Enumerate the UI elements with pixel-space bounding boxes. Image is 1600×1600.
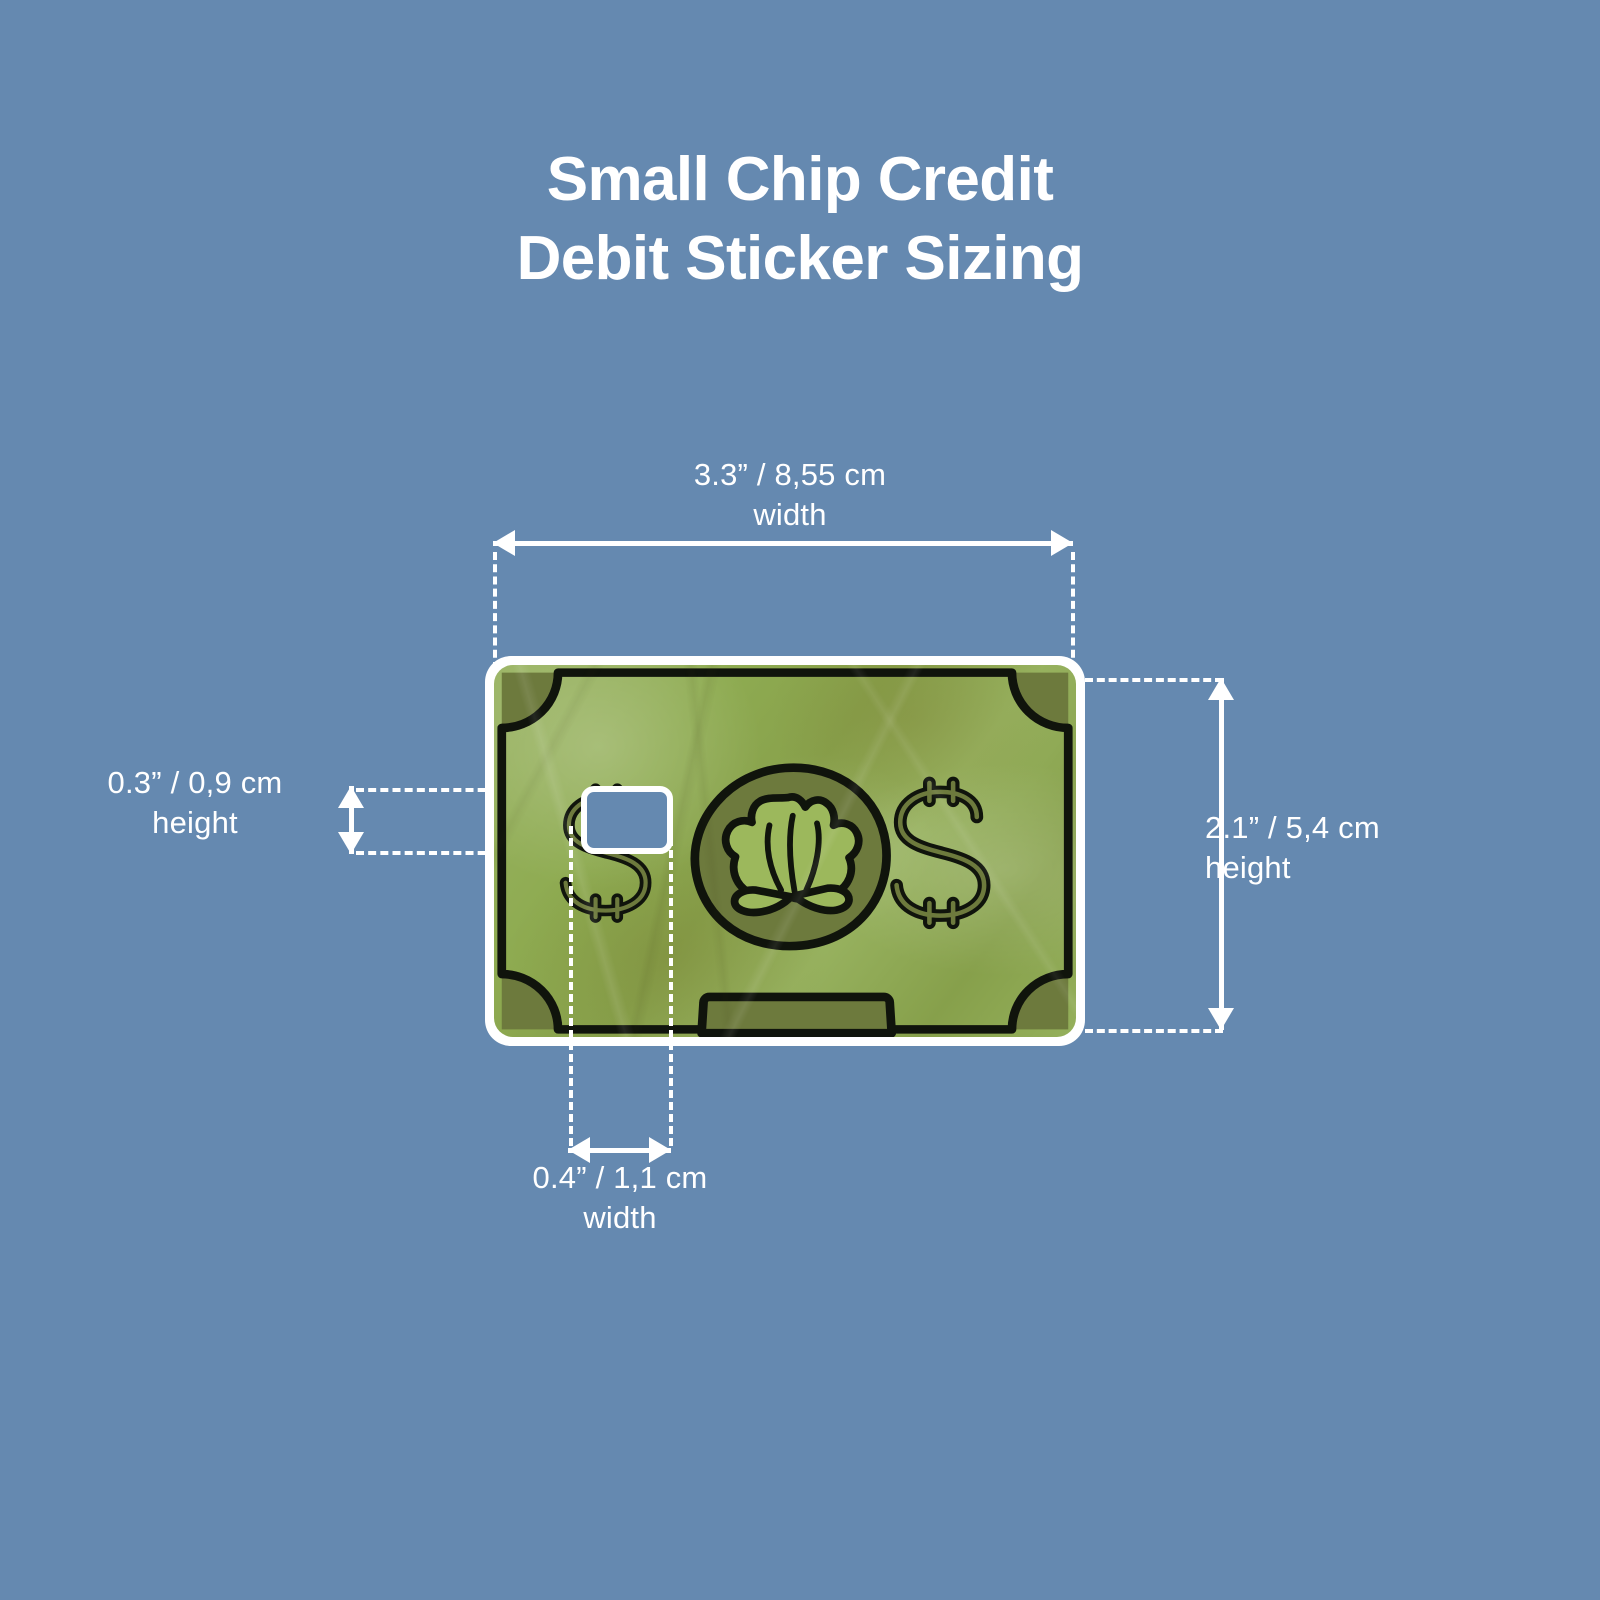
sticker-sizing-infographic: Small Chip Credit Debit Sticker Sizing 3… — [0, 0, 1600, 1600]
chip-height-arrow — [337, 786, 365, 854]
arrow-bar — [1219, 678, 1224, 1030]
card-artwork-money-bill — [494, 665, 1076, 1037]
card-height-label: 2.1” / 5,4 cm height — [1205, 808, 1535, 887]
chip-cutout[interactable] — [581, 786, 673, 854]
credit-card-sticker[interactable] — [485, 656, 1085, 1046]
center-oval-emblem — [695, 768, 887, 946]
card-height-axis: height — [1205, 848, 1535, 888]
card-width-arrow — [493, 529, 1073, 557]
arrow-head-down-icon — [1208, 1008, 1234, 1030]
card-height-value: 2.1” / 5,4 cm — [1205, 808, 1535, 848]
card-width-extension-left — [493, 552, 497, 670]
card-width-extension-right — [1071, 552, 1075, 670]
chip-width-value: 0.4” / 1,1 cm — [475, 1158, 765, 1198]
chip-height-axis: height — [60, 803, 330, 843]
card-width-value: 3.3” / 8,55 cm — [620, 455, 960, 495]
card-width-label: 3.3” / 8,55 cm width — [620, 455, 960, 534]
page-title: Small Chip Credit Debit Sticker Sizing — [0, 140, 1600, 299]
dollar-bill-illustration — [494, 665, 1076, 1037]
dollar-sign-right — [897, 783, 985, 923]
chip-height-value: 0.3” / 0,9 cm — [60, 763, 330, 803]
chip-width-extension-right — [669, 826, 673, 1146]
card-height-arrow — [1207, 678, 1235, 1030]
chip-width-label: 0.4” / 1,1 cm width — [475, 1158, 765, 1237]
bottom-bar — [702, 997, 892, 1033]
arrow-bar — [493, 541, 1073, 546]
chip-width-axis: width — [475, 1198, 765, 1238]
chip-width-extension-left — [569, 826, 573, 1146]
card-height-extension-bottom — [1085, 1029, 1223, 1033]
arrow-head-right-icon — [1051, 530, 1073, 556]
chip-height-label: 0.3” / 0,9 cm height — [60, 763, 330, 842]
card-height-extension-top — [1085, 678, 1223, 682]
